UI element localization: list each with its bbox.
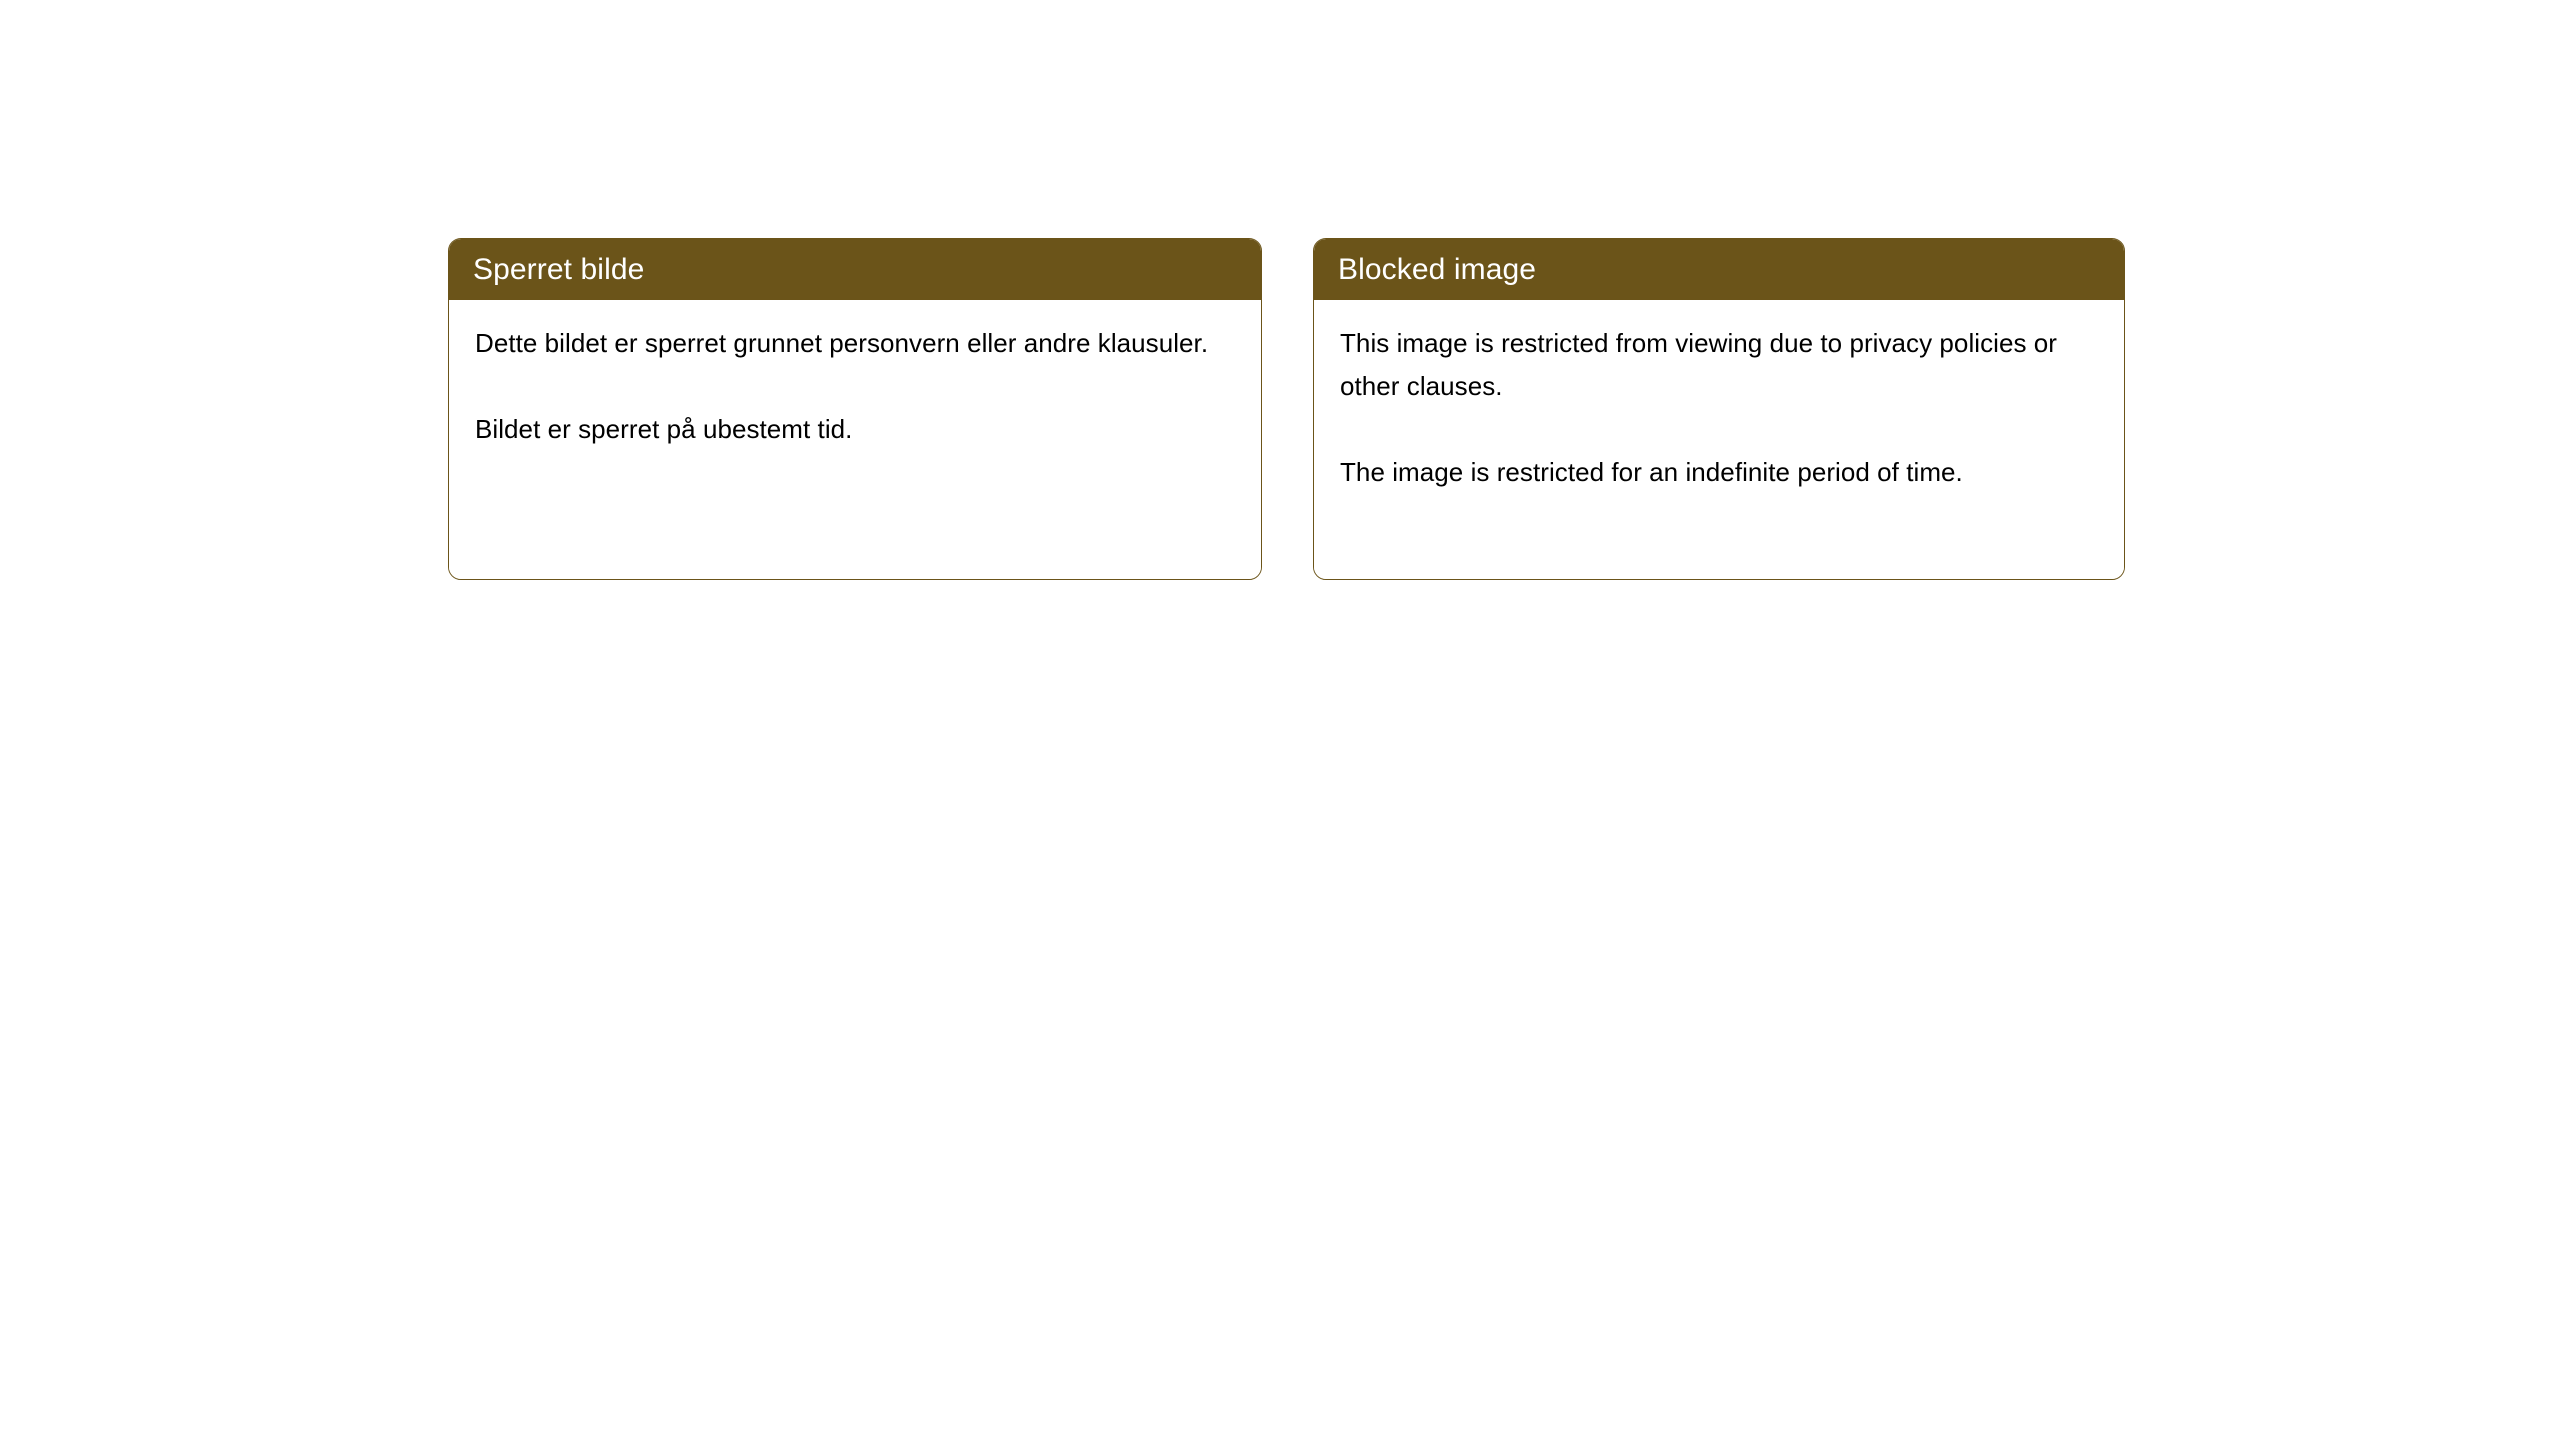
card-body-norwegian: Dette bildet er sperret grunnet personve… [449,300,1261,579]
card-paragraph-secondary-english: The image is restricted for an indefinit… [1340,451,2098,494]
card-paragraph-secondary-norwegian: Bildet er sperret på ubestemt tid. [475,408,1235,451]
blocked-image-card-english: Blocked image This image is restricted f… [1313,238,2125,580]
card-paragraph-primary-english: This image is restricted from viewing du… [1340,322,2098,408]
card-title-norwegian: Sperret bilde [473,253,644,287]
page-canvas: Sperret bilde Dette bildet er sperret gr… [0,0,2560,1440]
card-body-english: This image is restricted from viewing du… [1314,300,2124,579]
card-header-english: Blocked image [1314,239,2124,300]
card-paragraph-primary-norwegian: Dette bildet er sperret grunnet personve… [475,322,1235,365]
blocked-image-card-norwegian: Sperret bilde Dette bildet er sperret gr… [448,238,1262,580]
card-header-norwegian: Sperret bilde [449,239,1261,300]
card-title-english: Blocked image [1338,253,1536,287]
blocked-image-notice-group: Sperret bilde Dette bildet er sperret gr… [448,238,2125,580]
